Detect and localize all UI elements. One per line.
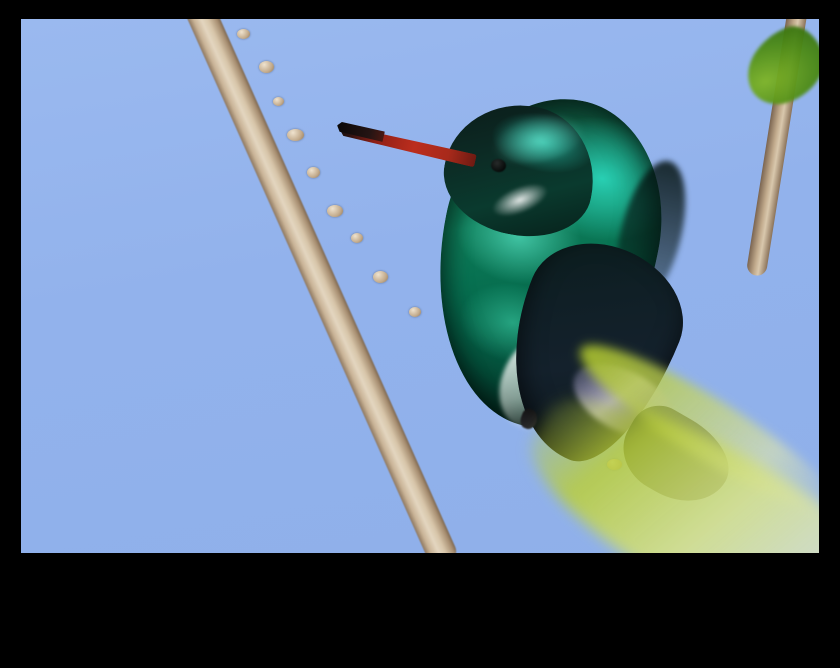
bird-photograph xyxy=(21,19,819,553)
caption-bar: Especie:Picaflor común — Chlorostilbon l… xyxy=(0,553,840,668)
screenshot-root: Especie:Picaflor común — Chlorostilbon l… xyxy=(0,0,840,668)
